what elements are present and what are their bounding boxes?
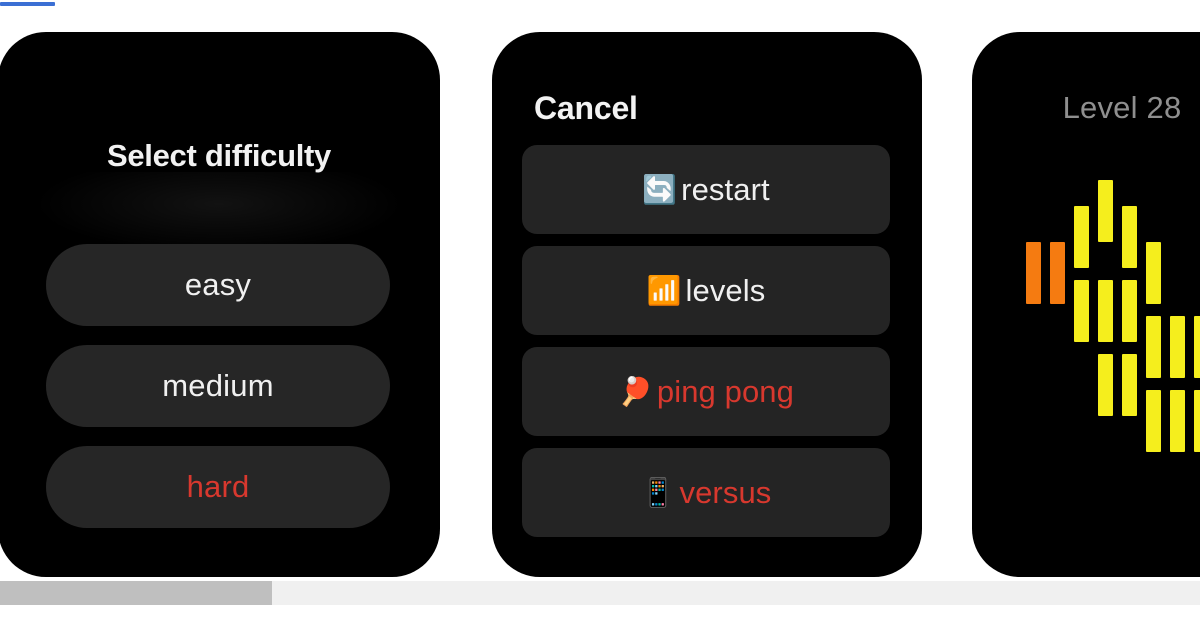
- watch-screen-select-difficulty[interactable]: Select difficulty easy medium hard: [0, 32, 440, 577]
- level-block: [1098, 280, 1113, 342]
- watch-screen-level[interactable]: Level 28: [972, 32, 1200, 577]
- difficulty-option-label: hard: [187, 469, 250, 505]
- refresh-icon: 🔄: [642, 176, 677, 204]
- menu-item-levels[interactable]: 📶 levels: [522, 246, 890, 335]
- difficulty-option-label: medium: [162, 368, 273, 404]
- menu-item-versus[interactable]: 📱 versus: [522, 448, 890, 537]
- menu-item-label: ping pong: [657, 374, 794, 410]
- page-bottom-fill: [0, 605, 1200, 628]
- level-block: [1170, 316, 1185, 378]
- cancel-button[interactable]: Cancel: [534, 90, 638, 127]
- screen-glare: [38, 172, 400, 252]
- difficulty-option-label: easy: [185, 267, 251, 303]
- difficulty-option-hard[interactable]: hard: [46, 446, 390, 528]
- difficulty-option-medium[interactable]: medium: [46, 345, 390, 427]
- level-block: [1146, 390, 1161, 452]
- difficulty-option-easy[interactable]: easy: [46, 244, 390, 326]
- level-block: [1074, 206, 1089, 268]
- watch-screen-action-menu[interactable]: Cancel 🔄 restart 📶 levels 🏓 ping pong 📱 …: [492, 32, 922, 577]
- level-block: [1122, 280, 1137, 342]
- level-block: [1098, 354, 1113, 416]
- level-block: [1146, 242, 1161, 304]
- page-title: Select difficulty: [0, 138, 440, 174]
- ping-pong-icon: 🏓: [618, 378, 653, 406]
- level-block: [1122, 206, 1137, 268]
- level-block: [1074, 280, 1089, 342]
- level-block: [1122, 354, 1137, 416]
- level-block: [1026, 242, 1041, 304]
- level-block-field: [1026, 180, 1200, 480]
- level-block: [1194, 390, 1200, 452]
- level-block: [1098, 180, 1113, 242]
- level-block: [1050, 242, 1065, 304]
- level-block: [1146, 316, 1161, 378]
- menu-item-label: restart: [681, 172, 770, 208]
- level-block: [1170, 390, 1185, 452]
- level-block: [1194, 316, 1200, 378]
- level-label: Level 28: [972, 90, 1200, 126]
- menu-item-ping-pong[interactable]: 🏓 ping pong: [522, 347, 890, 436]
- mobile-phone-icon: 📱: [641, 479, 676, 507]
- menu-item-label: levels: [686, 273, 766, 309]
- menu-item-label: versus: [679, 475, 771, 511]
- signal-bars-icon: 📶: [647, 277, 682, 305]
- menu-item-restart[interactable]: 🔄 restart: [522, 145, 890, 234]
- horizontal-scrollbar-track[interactable]: [0, 581, 1200, 605]
- horizontal-scrollbar-thumb[interactable]: [0, 581, 272, 605]
- screenshot-gallery[interactable]: Select difficulty easy medium hard Cance…: [0, 0, 1200, 580]
